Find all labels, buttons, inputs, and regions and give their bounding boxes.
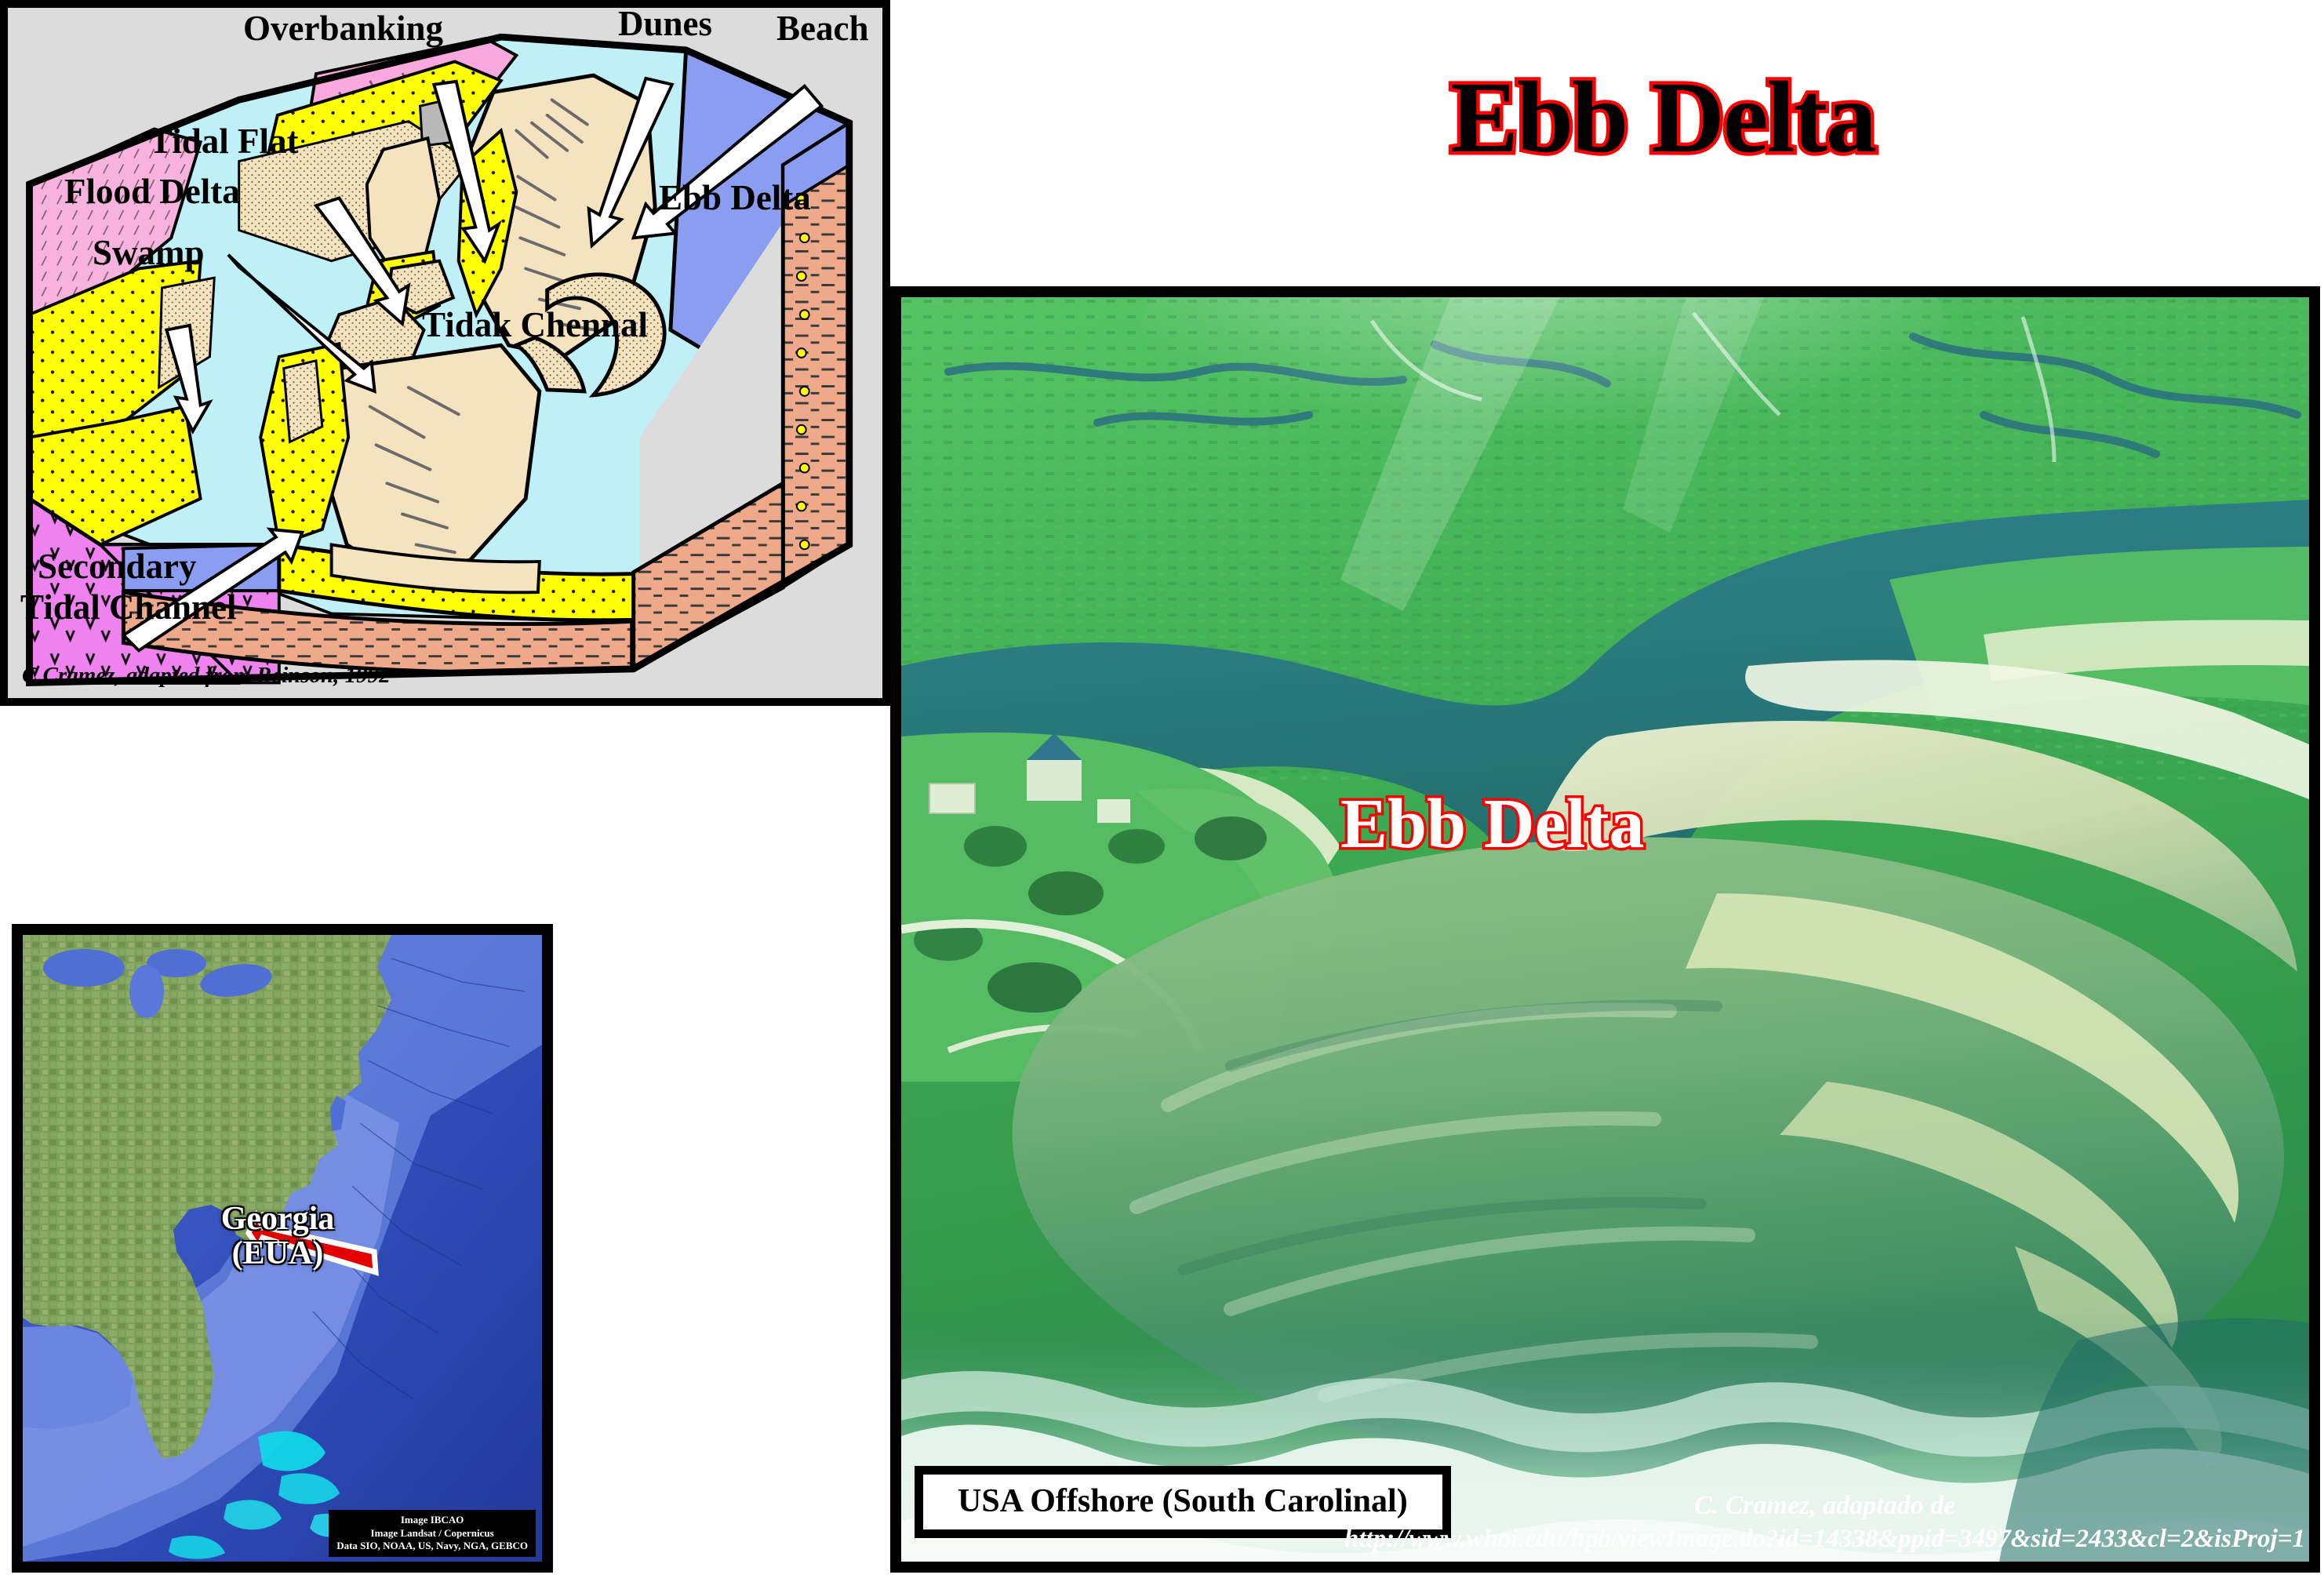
diagram-label-tidal-flat: Tidal Flat [149, 124, 298, 159]
photo-source-credit-line1: C. Cramez, adaptado de [1344, 1489, 2305, 1523]
diagram-label-ebb-delta: Ebb Delta [659, 180, 811, 216]
map-credit-line-2: Image Landsat / Copernicus [336, 1527, 528, 1540]
map-region-label-line2: (EUA) [180, 1236, 376, 1271]
page-title-text: Ebb Delta [1450, 61, 1875, 174]
map-credit-line-3: Data SIO, NOAA, US, Navy, NGA, GEBCO [336, 1540, 528, 1552]
map-region-label: Georgia (EUA) [180, 1202, 376, 1271]
aerial-photo-panel: Ebb Delta USA Offshore (South Carolinal)… [890, 286, 2320, 1573]
block-diagram-panel: Overbanking Dunes Beach Tidal Flat Flood… [0, 0, 890, 706]
diagram-label-secondary-tidal-channel-line1: Secondary [38, 549, 197, 584]
diagram-label-tidak-chennal: Tidak Chennal [422, 307, 648, 343]
map-credit-box: Image IBCAO Image Landsat / Copernicus D… [329, 1510, 536, 1557]
diagram-label-dunes: Dunes [618, 6, 712, 42]
photo-location-caption-text: USA Offshore (South Carolinal) [958, 1483, 1408, 1519]
diagram-label-swamp: Swamp [93, 235, 205, 271]
map-credit-line-1: Image IBCAO [336, 1514, 528, 1526]
diagram-label-overbanking: Overbanking [243, 11, 443, 46]
photo-source-credit: C. Cramez, adaptado de http://www.whoi.e… [1344, 1489, 2305, 1555]
diagram-label-beach: Beach [776, 11, 869, 46]
location-map-panel: Georgia (EUA) Image IBCAO Image Landsat … [12, 924, 553, 1573]
map-region-label-line1: Georgia [180, 1202, 376, 1236]
diagram-label-secondary-tidal-channel-line2: Tidal Channel [20, 590, 237, 625]
photo-source-credit-line2: http://www.whoi.edu/hpb/viewImage.do?id=… [1344, 1523, 2305, 1555]
photo-ebb-delta-label: Ebb Delta [1340, 784, 1645, 864]
diagram-label-flood-delta: Flood Delta [64, 174, 240, 209]
page-title: Ebb Delta [1326, 67, 2000, 169]
aerial-photo-image [901, 297, 2309, 1562]
diagram-credit: C.Cramez, adapted from Reinson, 1992 [22, 663, 391, 689]
